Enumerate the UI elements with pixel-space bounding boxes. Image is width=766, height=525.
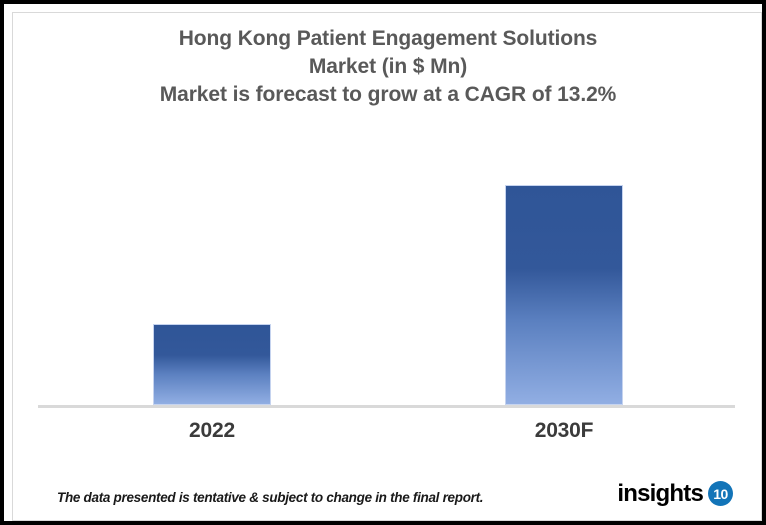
logo-wordmark: insights bbox=[617, 482, 703, 506]
bar-2030f[interactable] bbox=[505, 185, 623, 405]
logo-badge-icon: 10 bbox=[708, 481, 733, 506]
category-label-2022: 2022 bbox=[153, 419, 271, 443]
insights10-logo: insights 10 bbox=[617, 481, 733, 506]
chart-outer-frame: Hong Kong Patient Engagement Solutions M… bbox=[0, 0, 766, 525]
disclaimer-text: The data presented is tentative & subjec… bbox=[57, 490, 483, 505]
plot-area: 27.26 2022 73.49 2030F bbox=[13, 13, 763, 522]
category-axis-line bbox=[38, 405, 735, 408]
bar-2022[interactable] bbox=[153, 324, 271, 405]
category-label-2030f: 2030F bbox=[505, 419, 623, 443]
chart-canvas: Hong Kong Patient Engagement Solutions M… bbox=[12, 12, 762, 521]
